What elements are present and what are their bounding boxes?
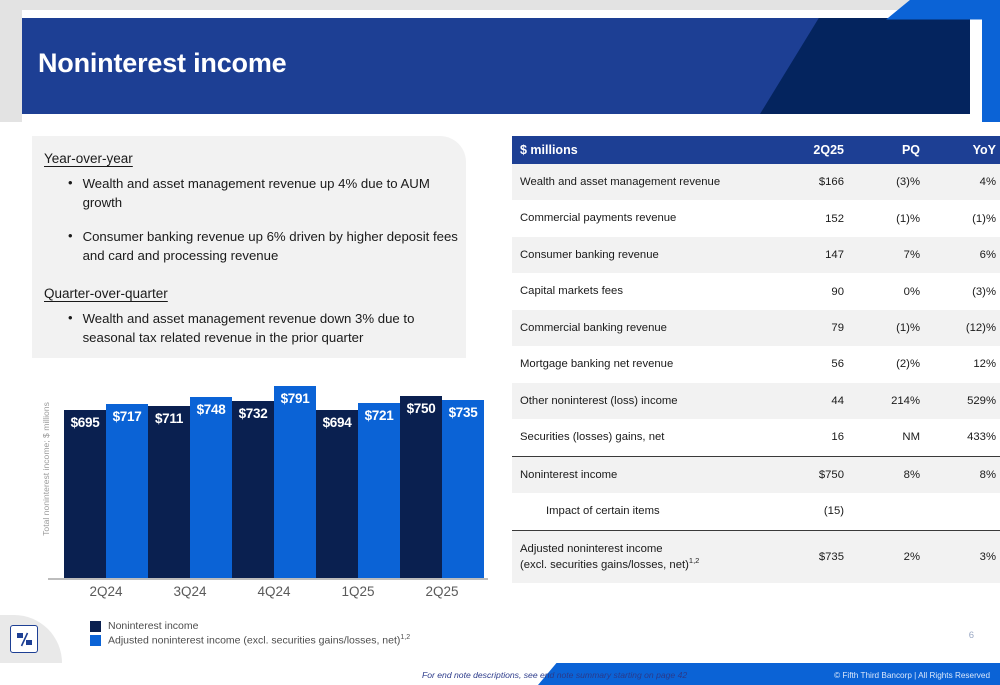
footnote-superscript: 1,2 [689,556,699,565]
column-header-yoy: YoY [928,136,1000,164]
bar-4q24-series1: $732 [232,401,274,578]
bar-1q25-series2: $721 [358,403,400,578]
x-axis-tick-3q24: 3Q24 [148,584,232,599]
bar-4q24-series2: $791 [274,386,316,578]
table-row: Adjusted noninterest income(excl. securi… [512,530,1000,583]
bar-1q25-series1: $694 [316,410,358,578]
bar-value-label: $732 [239,406,268,421]
bullet-text: Wealth and asset management revenue up 4… [83,174,458,212]
table-header: $ millions 2Q25 PQ YoY [512,136,1000,164]
bar-3q24-series1: $711 [148,406,190,578]
table-cell-yoy: 433% [928,419,1000,456]
header-left-gray-band [0,0,22,122]
legend-item-noninterest-income: Noninterest income [90,620,410,632]
bar-value-label: $711 [155,411,183,426]
header-right-edge-bar [982,0,1000,122]
table-cell-metric: Mortgage banking net revenue [512,346,766,382]
table-row: Capital markets fees900%(3)% [512,273,1000,309]
table-row: Mortgage banking net revenue56(2)%12% [512,346,1000,382]
legend-item-adjusted-noninterest-income: Adjusted noninterest income (excl. secur… [90,634,410,647]
bar-value-label: $735 [449,405,478,420]
table-cell-metric: Securities (losses) gains, net [512,419,766,456]
table-cell-metric: Wealth and asset management revenue [512,164,766,200]
yoy-section-heading: Year-over-year [44,151,133,166]
bar-group-4q24: $732$791 [232,372,316,578]
bullet-dot-icon: • [68,309,73,347]
legend-label-superscript: 1,2 [400,634,410,641]
table-cell-yoy: 529% [928,383,1000,419]
bar-group-2q25: $750$735 [400,372,484,578]
table-cell-yoy: 6% [928,237,1000,273]
bullet-dot-icon: • [68,227,73,265]
column-header-metric: $ millions [512,136,766,164]
table-row: Securities (losses) gains, net16NM433% [512,419,1000,456]
table-cell-pq: 7% [852,237,928,273]
slide-canvas: Noninterest income Year-over-year • Weal… [0,0,1000,685]
table-cell-2q25: 16 [766,419,852,456]
noninterest-income-table: $ millions 2Q25 PQ YoY Wealth and asset … [512,136,1000,583]
list-item: • Consumer banking revenue up 6% driven … [68,227,458,265]
table-cell-pq: 2% [852,530,928,583]
table-cell-2q25: $735 [766,530,852,583]
bar-value-label: $721 [365,408,394,423]
column-header-pq: PQ [852,136,928,164]
table-cell-2q25: $166 [766,164,852,200]
qoq-section-heading: Quarter-over-quarter [44,286,168,301]
legend-swatch-icon [90,621,101,632]
table-cell-yoy: 3% [928,530,1000,583]
bar-3q24-series2: $748 [190,397,232,578]
table-row: Noninterest income$7508%8% [512,456,1000,493]
x-axis-tick-2q24: 2Q24 [64,584,148,599]
chart-plot-area: $695$717$711$748$732$791$694$721$750$735 [48,372,478,578]
chart-x-axis-line [48,578,488,580]
table-cell-pq: (1)% [852,310,928,346]
table-cell-metric: Capital markets fees [512,273,766,309]
bar-2q24-series2: $717 [106,404,148,578]
footer-endnote-text: For end note descriptions, see end note … [422,670,687,680]
bar-value-label: $791 [281,391,310,406]
table-body: Wealth and asset management revenue$166(… [512,164,1000,583]
table-cell-2q25: $750 [766,456,852,493]
table-cell-metric: Adjusted noninterest income(excl. securi… [512,530,766,583]
x-axis-tick-1q25: 1Q25 [316,584,400,599]
table-cell-pq: 8% [852,456,928,493]
table-cell-yoy: (3)% [928,273,1000,309]
bar-group-1q25: $694$721 [316,372,400,578]
legend-swatch-icon [90,635,101,646]
commentary-panel: Year-over-year • Wealth and asset manage… [32,136,466,358]
x-axis-tick-4q24: 4Q24 [232,584,316,599]
table-row: Commercial banking revenue79(1)%(12)% [512,310,1000,346]
table-cell-pq: (3)% [852,164,928,200]
bullet-text: Wealth and asset management revenue down… [83,309,458,347]
table-cell-pq [852,493,928,530]
table-cell-2q25: 90 [766,273,852,309]
table-cell-metric: Impact of certain items [512,493,766,530]
table-cell-metric: Consumer banking revenue [512,237,766,273]
table-row: Other noninterest (loss) income44214%529… [512,383,1000,419]
table-cell-yoy: (1)% [928,200,1000,236]
table-cell-yoy [928,493,1000,530]
legend-label: Noninterest income [108,620,198,632]
table-row: Consumer banking revenue1477%6% [512,237,1000,273]
slide-header: Noninterest income [0,0,1000,122]
bar-value-label: $750 [407,401,436,416]
chart-legend: Noninterest income Adjusted noninterest … [90,620,410,649]
fifth-third-logo [10,625,38,653]
bar-value-label: $748 [197,402,226,417]
bar-value-label: $694 [323,415,352,430]
table-cell-2q25: 56 [766,346,852,382]
table-row: Impact of certain items(15) [512,493,1000,530]
bar-group-3q24: $711$748 [148,372,232,578]
page-title: Noninterest income [38,48,286,79]
bar-value-label: $717 [113,409,142,424]
bar-value-label: $695 [71,415,100,430]
table-cell-2q25: 147 [766,237,852,273]
table-cell-pq: 0% [852,273,928,309]
table-cell-2q25: 79 [766,310,852,346]
table-cell-pq: (1)% [852,200,928,236]
legend-label: Adjusted noninterest income (excl. secur… [108,634,410,647]
bar-2q24-series1: $695 [64,410,106,578]
column-header-2q25: 2Q25 [766,136,852,164]
bar-2q25-series2: $735 [442,400,484,578]
table-cell-2q25: 152 [766,200,852,236]
noninterest-income-bar-chart: Total noninterest income; $ millions $69… [18,372,478,647]
table-cell-pq: 214% [852,383,928,419]
table-header-row: $ millions 2Q25 PQ YoY [512,136,1000,164]
table-cell-yoy: 8% [928,456,1000,493]
table-cell-pq: (2)% [852,346,928,382]
header-top-strip [0,0,1000,10]
table-row: Commercial payments revenue152(1)%(1)% [512,200,1000,236]
table-cell-metric: Other noninterest (loss) income [512,383,766,419]
table-cell-yoy: 12% [928,346,1000,382]
table-cell-metric: Commercial payments revenue [512,200,766,236]
legend-label-text: Adjusted noninterest income (excl. secur… [108,635,400,647]
bullet-dot-icon: • [68,174,73,212]
page-number: 6 [969,630,974,641]
table-cell-2q25: 44 [766,383,852,419]
table-row: Wealth and asset management revenue$166(… [512,164,1000,200]
table-cell-metric: Noninterest income [512,456,766,493]
table-cell-2q25: (15) [766,493,852,530]
table-cell-yoy: (12)% [928,310,1000,346]
bar-2q25-series1: $750 [400,396,442,578]
bullet-text: Consumer banking revenue up 6% driven by… [83,227,458,265]
table-cell-yoy: 4% [928,164,1000,200]
table-cell-metric: Commercial banking revenue [512,310,766,346]
slide-footer: For end note descriptions, see end note … [0,663,1000,685]
list-item: • Wealth and asset management revenue up… [68,174,458,212]
footer-copyright: © Fifth Third Bancorp | All Rights Reser… [834,671,990,680]
bar-group-2q24: $695$717 [64,372,148,578]
table-cell-pq: NM [852,419,928,456]
x-axis-tick-2q25: 2Q25 [400,584,484,599]
list-item: • Wealth and asset management revenue do… [68,309,458,347]
